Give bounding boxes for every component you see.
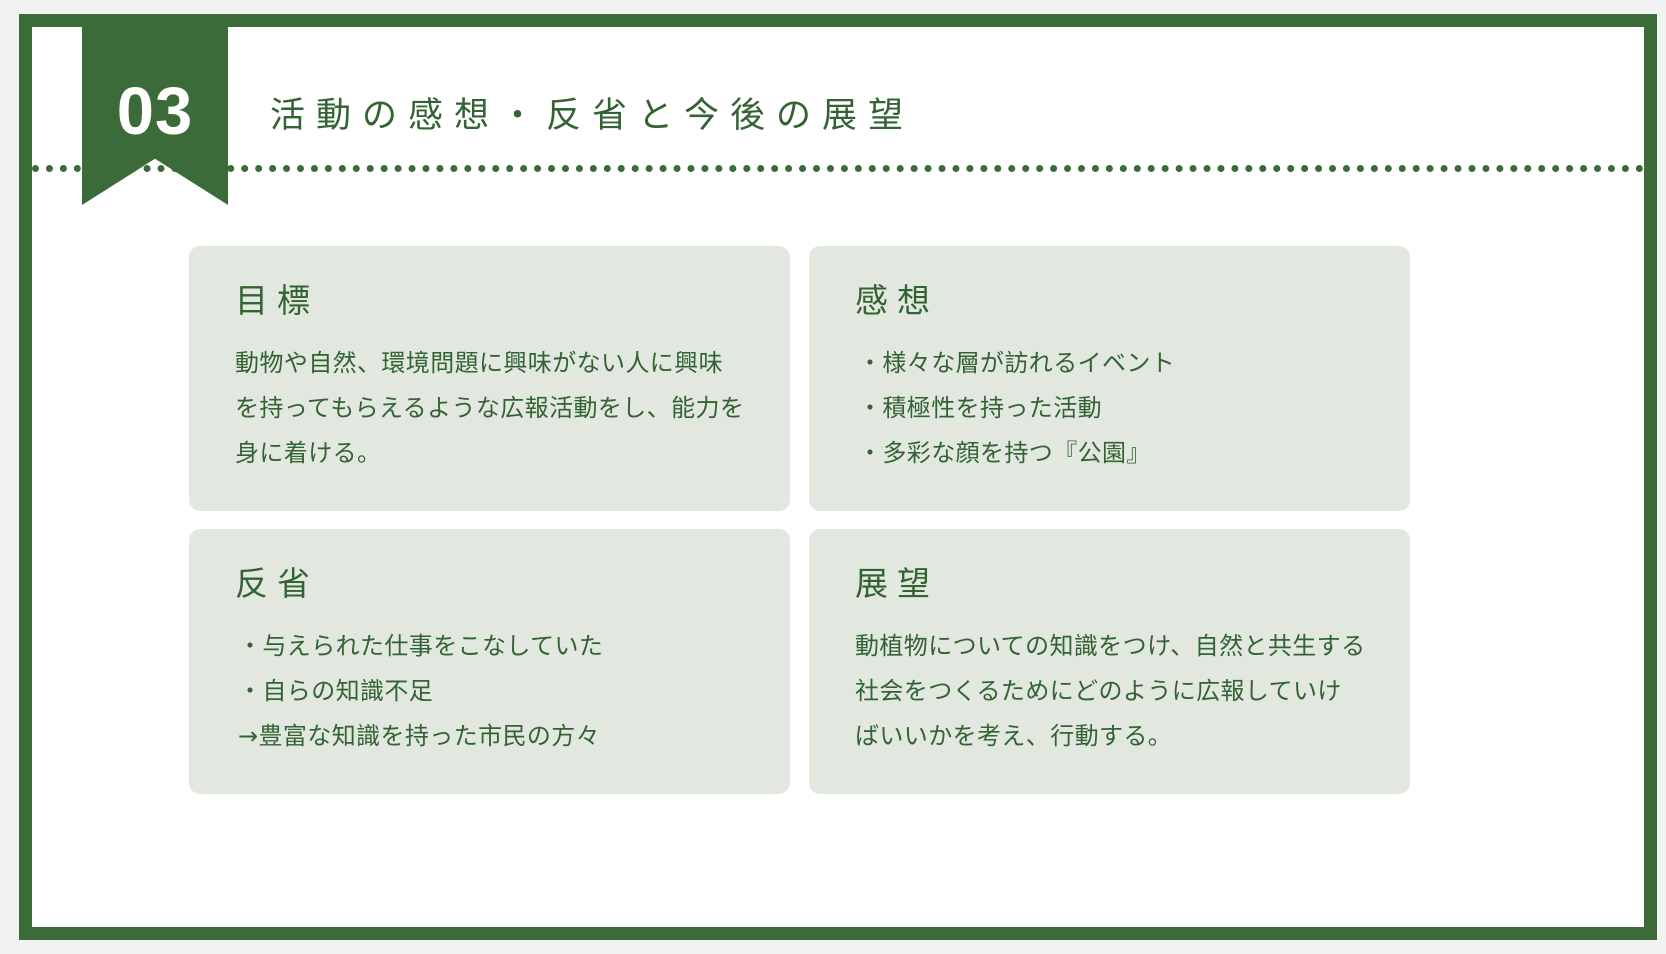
slide-content-area: 03 活動の感想・反省と今後の展望 目標 動物や自然、環境問題に興味がない人に興… [32,27,1644,927]
card-outlook: 展望 動植物についての知識をつけ、自然と共生する社会をつくるためにどのように広報… [809,529,1410,794]
card-impressions: 感想 ・様々な層が訪れるイベント ・積極性を持った活動 ・多彩な顔を持つ『公園』 [809,246,1410,511]
slide-header: 03 活動の感想・反省と今後の展望 [32,27,1644,227]
header-dotted-divider [32,165,1644,172]
card-impressions-list: ・様々な層が訪れるイベント ・積極性を持った活動 ・多彩な顔を持つ『公園』 [855,341,1366,476]
page-title: 活動の感想・反省と今後の展望 [270,87,914,138]
list-item: ・与えられた仕事をこなしていた [238,624,746,669]
list-item: ・多彩な顔を持つ『公園』 [858,431,1366,476]
card-outlook-body: 動植物についての知識をつけ、自然と共生する社会をつくるためにどのように広報してい… [855,624,1366,759]
card-grid: 目標 動物や自然、環境問題に興味がない人に興味を持ってもらえるような広報活動をし… [189,246,1413,794]
section-number: 03 [117,78,194,145]
card-goal-title: 目標 [235,284,746,317]
section-number-ribbon: 03 [82,27,228,205]
card-impressions-title: 感想 [855,284,1366,317]
list-item: ・様々な層が訪れるイベント [858,341,1366,386]
list-item: ・積極性を持った活動 [858,386,1366,431]
card-reflection-title: 反省 [235,567,746,600]
card-reflection-list: ・与えられた仕事をこなしていた ・自らの知識不足 →豊富な知識を持った市民の方々 [235,624,746,759]
slide-frame: 03 活動の感想・反省と今後の展望 目標 動物や自然、環境問題に興味がない人に興… [19,14,1657,940]
card-outlook-title: 展望 [855,567,1366,600]
card-goal-body: 動物や自然、環境問題に興味がない人に興味を持ってもらえるような広報活動をし、能力… [235,341,746,476]
list-item: →豊富な知識を持った市民の方々 [238,714,746,759]
list-item: ・自らの知識不足 [238,669,746,714]
card-reflection: 反省 ・与えられた仕事をこなしていた ・自らの知識不足 →豊富な知識を持った市民… [189,529,790,794]
card-goal: 目標 動物や自然、環境問題に興味がない人に興味を持ってもらえるような広報活動をし… [189,246,790,511]
